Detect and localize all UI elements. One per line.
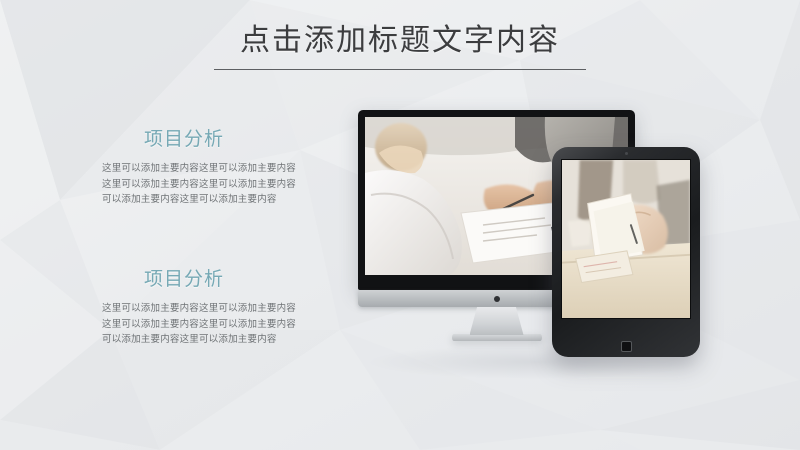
tablet-camera-icon	[625, 152, 628, 155]
slide-canvas: 点击添加标题文字内容 项目分析 这里可以添加主要内容这里可以添加主要内容 这里可…	[0, 0, 800, 450]
content-section-1: 项目分析 这里可以添加主要内容这里可以添加主要内容 这里可以添加主要内容这里可以…	[92, 124, 324, 208]
tablet-photo-hand-with-papers	[562, 160, 690, 318]
device-mockup-group	[330, 95, 730, 405]
section-1-line-3: 可以添加主要内容这里可以添加主要内容	[92, 192, 324, 208]
section-2-line-1: 这里可以添加主要内容这里可以添加主要内容	[92, 301, 324, 317]
tablet	[552, 147, 700, 357]
section-1-line-1: 这里可以添加主要内容这里可以添加主要内容	[92, 161, 324, 177]
section-2-line-2: 这里可以添加主要内容这里可以添加主要内容	[92, 317, 324, 333]
monitor-stand-base	[452, 334, 542, 341]
monitor-logo-dot	[494, 296, 500, 302]
tablet-home-button[interactable]	[621, 341, 632, 352]
section-1-line-2: 这里可以添加主要内容这里可以添加主要内容	[92, 177, 324, 193]
monitor-stand-neck	[470, 307, 524, 335]
content-section-2: 项目分析 这里可以添加主要内容这里可以添加主要内容 这里可以添加主要内容这里可以…	[92, 264, 324, 348]
title-block: 点击添加标题文字内容	[0, 22, 800, 70]
tablet-screen	[561, 159, 691, 319]
section-1-heading: 项目分析	[92, 124, 324, 151]
section-2-body: 这里可以添加主要内容这里可以添加主要内容 这里可以添加主要内容这里可以添加主要内…	[92, 301, 324, 348]
section-2-heading: 项目分析	[92, 264, 324, 291]
title-underline-rule	[214, 69, 586, 70]
section-1-body: 这里可以添加主要内容这里可以添加主要内容 这里可以添加主要内容这里可以添加主要内…	[92, 161, 324, 208]
page-title: 点击添加标题文字内容	[0, 22, 800, 60]
section-2-line-3: 可以添加主要内容这里可以添加主要内容	[92, 332, 324, 348]
